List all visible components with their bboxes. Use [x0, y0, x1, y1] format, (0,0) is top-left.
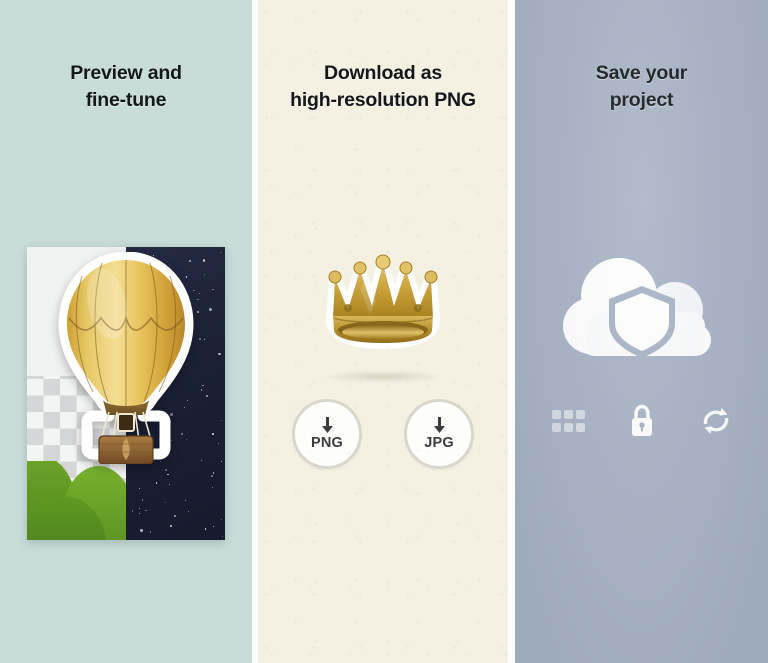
save-feature-icons [515, 404, 768, 438]
crown-drop-shadow [324, 370, 442, 383]
sync-icon[interactable] [699, 404, 733, 438]
download-arrow-icon [321, 417, 334, 434]
panel-save-title-line1: Save your [596, 62, 687, 84]
grid-icon[interactable] [551, 404, 585, 438]
download-jpg-label: JPG [424, 435, 454, 451]
download-png-button[interactable]: PNG [295, 402, 359, 466]
panel-divider-2 [508, 0, 515, 663]
panel-save: Save your project [515, 0, 768, 663]
panel-preview-title: Preview and fine-tune [0, 60, 252, 114]
download-jpg-button[interactable]: JPG [407, 402, 471, 466]
download-buttons-row: PNG JPG [258, 402, 508, 466]
download-png-label: PNG [311, 435, 343, 451]
gold-crown-sticker [308, 248, 458, 360]
hot-air-balloon-sticker[interactable] [55, 252, 197, 464]
panel-download-title-line1: Download as [324, 62, 442, 84]
panel-save-title: Save your project [515, 60, 768, 114]
panel-preview-title-line1: Preview and [70, 62, 182, 84]
panel-save-title-line2: project [515, 87, 768, 114]
cloud-with-shield-icon [549, 252, 735, 370]
panel-download: Download as high-resolution PNG [258, 0, 508, 663]
download-arrow-icon [433, 417, 446, 434]
feature-panels-board: Preview and fine-tune [0, 0, 768, 663]
panel-preview: Preview and fine-tune [0, 0, 252, 663]
panel-download-title: Download as high-resolution PNG [258, 60, 508, 114]
panel-preview-title-line2: fine-tune [0, 87, 252, 114]
green-hills-graphic [27, 461, 126, 540]
lock-icon[interactable] [625, 404, 659, 438]
panel-download-title-line2: high-resolution PNG [258, 87, 508, 114]
